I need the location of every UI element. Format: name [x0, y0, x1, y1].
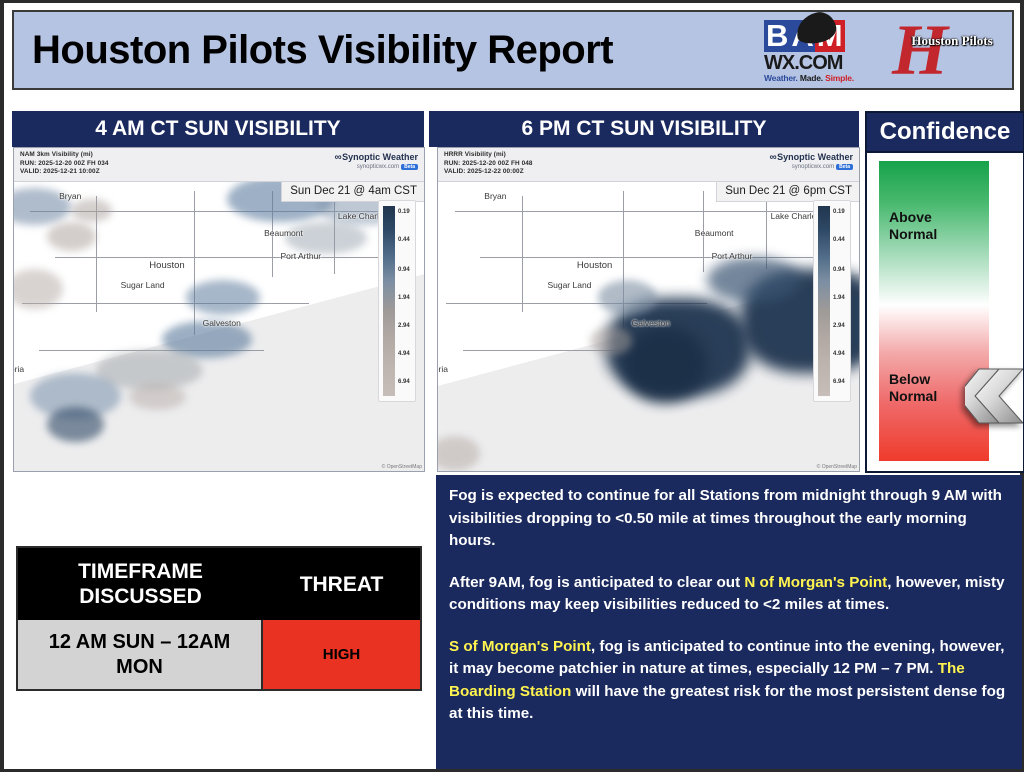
synoptic-brand-name: ∞ Synoptic Weather [334, 152, 418, 163]
colorbar-tick-6: 6.94 [833, 379, 845, 385]
timeframe-value-line-2: MON [49, 655, 231, 680]
pilots-h-monogram-icon: H [892, 17, 1004, 83]
map-right-brand: ∞ Synoptic Weather synopticwx.comBeta [769, 148, 859, 181]
confidence-label-above-normal: Above Normal [889, 209, 937, 243]
colorbar-tick-5: 4.94 [833, 351, 845, 357]
above-line-1: Above [889, 209, 937, 226]
column-header-timeframe: TIMEFRAME DISCUSSED [18, 548, 263, 620]
brand-label: Synoptic Weather [777, 152, 853, 162]
colorbar-gradient [818, 206, 830, 396]
map-left-attribution: © OpenStreetMap [382, 464, 422, 470]
confidence-label-below-normal: Below Normal [889, 371, 937, 405]
discussion-paragraph-1: Fog is expected to continue for all Stat… [449, 485, 1009, 553]
houston-pilots-logo: H Houston Pilots [892, 15, 1004, 85]
brand-url-label: synopticwx.com [357, 164, 399, 170]
beta-badge: Beta [836, 164, 853, 170]
city-label-galveston: Galveston [632, 318, 670, 328]
map-left-valid: VALID: 2025-12-21 10:00Z [20, 168, 109, 177]
colorbar-tick-1: 0.44 [833, 237, 845, 243]
map-left-brand: ∞ Synoptic Weather synopticwx.comBeta [334, 148, 424, 181]
colorbar-tick-5: 4.94 [398, 351, 410, 357]
colorbar-tick-2: 0.94 [833, 267, 845, 273]
brand-url-label: synopticwx.com [792, 164, 834, 170]
map-left-run: RUN: 2025-12-20 00Z FH 034 [20, 160, 109, 169]
visibility-map-4am[interactable]: NAM 3km Visibility (mi) RUN: 2025-12-20 … [13, 147, 425, 472]
map-left-topbar: NAM 3km Visibility (mi) RUN: 2025-12-20 … [14, 148, 424, 182]
discussion-p2-highlight: N of Morgan's Point [744, 574, 887, 591]
city-label-port-arthur: Port Arthur [712, 251, 753, 261]
pilots-logo-text: Houston Pilots [902, 33, 1002, 49]
colorbar-tick-0: 0.19 [398, 209, 410, 215]
map-left-canvas[interactable]: Bryan Houston Sugar Land Galveston Beaum… [14, 182, 424, 471]
colorbar-tick-3: 1.94 [398, 295, 410, 301]
discussion-p2-text-a: After 9AM, fog is anticipated to clear o… [449, 574, 744, 591]
colorbar-tick-2: 0.94 [398, 267, 410, 273]
colorbar-tick-4: 2.94 [398, 323, 410, 329]
map-right-run: RUN: 2025-12-20 00Z FH 048 [444, 160, 533, 169]
city-label-beaumont: Beaumont [264, 228, 303, 238]
map-right-attribution: © OpenStreetMap [817, 464, 857, 470]
colorbar-tick-4: 2.94 [833, 323, 845, 329]
map-right-topbar: HRRR Visibility (mi) RUN: 2025-12-20 00Z… [438, 148, 859, 182]
below-line-2: Normal [889, 388, 937, 405]
bamwx-tagline: Weather. Made. Simple. [764, 73, 882, 84]
map-right-valid: VALID: 2025-12-22 00:00Z [444, 168, 533, 177]
synoptic-brand-name: ∞ Synoptic Weather [769, 152, 853, 163]
map-right-model: HRRR Visibility (mi) [444, 151, 533, 160]
bamwx-url: WX.COM [764, 53, 882, 73]
colorbar-tick-6: 6.94 [398, 379, 410, 385]
timeframe-header-line-1: TIMEFRAME [78, 559, 203, 584]
colorbar-gradient [383, 206, 395, 396]
map-right-colorbar: 0.19 0.44 0.94 1.94 2.94 4.94 6.94 [813, 200, 851, 402]
map-right-metadata: HRRR Visibility (mi) RUN: 2025-12-20 00Z… [438, 148, 533, 181]
visibility-map-6pm[interactable]: HRRR Visibility (mi) RUN: 2025-12-20 00Z… [437, 147, 860, 472]
panel-title-4am: 4 AM CT SUN VISIBILITY [12, 111, 424, 147]
city-label-houston: Houston [577, 260, 612, 271]
city-label-port-arthur: Port Arthur [281, 251, 322, 261]
city-label-beaumont: Beaumont [695, 228, 734, 238]
city-label-victoria: oria [438, 364, 448, 374]
beta-badge: Beta [401, 164, 418, 170]
tagline-made: Made. [800, 73, 823, 83]
logo-group: BAM WX.COM Weather. Made. Simple. H Hous… [764, 15, 1004, 85]
discussion-p1-text: Fog is expected to continue for all Stat… [449, 487, 1002, 549]
discussion-paragraph-3: S of Morgan's Point, fog is anticipated … [449, 636, 1009, 726]
discussion-paragraph-2: After 9AM, fog is anticipated to clear o… [449, 572, 1009, 617]
tagline-weather: Weather. [764, 73, 798, 83]
page-title: Houston Pilots Visibility Report [32, 28, 613, 73]
colorbar-ticks: 0.19 0.44 0.94 1.94 2.94 4.94 6.94 [830, 201, 850, 401]
table-header-row: TIMEFRAME DISCUSSED THREAT [18, 548, 420, 620]
city-label-galveston: Galveston [203, 318, 241, 328]
colorbar-tick-1: 0.44 [398, 237, 410, 243]
city-label-victoria: oria [14, 364, 24, 374]
timeframe-header-line-2: DISCUSSED [78, 584, 203, 609]
infinity-icon: ∞ [334, 152, 339, 163]
cell-threat-value: HIGH [263, 620, 420, 689]
below-line-1: Below [889, 371, 937, 388]
confidence-double-chevron-icon [965, 367, 1024, 425]
report-header: Houston Pilots Visibility Report BAM WX.… [12, 10, 1014, 90]
confidence-panel: Above Normal Below Normal [865, 153, 1024, 473]
colorbar-tick-3: 1.94 [833, 295, 845, 301]
map-left-colorbar: 0.19 0.44 0.94 1.94 2.94 4.94 6.94 [378, 200, 416, 402]
colorbar-tick-0: 0.19 [833, 209, 845, 215]
timeframe-value-line-1: 12 AM SUN – 12AM [49, 630, 231, 655]
forecast-discussion-panel: Fog is expected to continue for all Stat… [436, 475, 1022, 769]
cell-timeframe-value: 12 AM SUN – 12AM MON [18, 620, 263, 689]
synoptic-brand-url: synopticwx.comBeta [334, 164, 418, 170]
bam-letter-b: B [764, 20, 790, 52]
timeframe-threat-table: TIMEFRAME DISCUSSED THREAT 12 AM SUN – 1… [16, 546, 422, 691]
panel-title-6pm: 6 PM CT SUN VISIBILITY [429, 111, 859, 147]
brand-label: Synoptic Weather [342, 152, 418, 162]
map-left-timestamp: Sun Dec 21 @ 4am CST [281, 182, 424, 202]
table-row: 12 AM SUN – 12AM MON HIGH [18, 620, 420, 689]
synoptic-brand-url: synopticwx.comBeta [769, 164, 853, 170]
colorbar-ticks: 0.19 0.44 0.94 1.94 2.94 4.94 6.94 [395, 201, 415, 401]
report-page: Houston Pilots Visibility Report BAM WX.… [0, 0, 1024, 772]
city-label-sugar-land: Sugar Land [547, 280, 591, 290]
discussion-p3-highlight-1: S of Morgan's Point [449, 638, 591, 655]
column-header-threat: THREAT [263, 548, 420, 620]
map-left-model: NAM 3km Visibility (mi) [20, 151, 109, 160]
map-right-timestamp: Sun Dec 21 @ 6pm CST [716, 182, 859, 202]
infinity-icon: ∞ [769, 152, 774, 163]
above-line-2: Normal [889, 226, 937, 243]
panel-title-confidence: Confidence [865, 111, 1024, 153]
bamwx-logo: BAM WX.COM Weather. Made. Simple. [764, 19, 882, 81]
city-label-houston: Houston [149, 260, 184, 271]
city-label-bryan: Bryan [59, 191, 81, 201]
city-label-bryan: Bryan [484, 191, 506, 201]
city-label-sugar-land: Sugar Land [121, 280, 165, 290]
map-right-canvas[interactable]: Bryan Houston Sugar Land Galveston Beaum… [438, 182, 859, 471]
bamwx-wordmark: BAM [764, 19, 882, 53]
tagline-simple: Simple. [825, 73, 854, 83]
map-left-metadata: NAM 3km Visibility (mi) RUN: 2025-12-20 … [14, 148, 109, 181]
